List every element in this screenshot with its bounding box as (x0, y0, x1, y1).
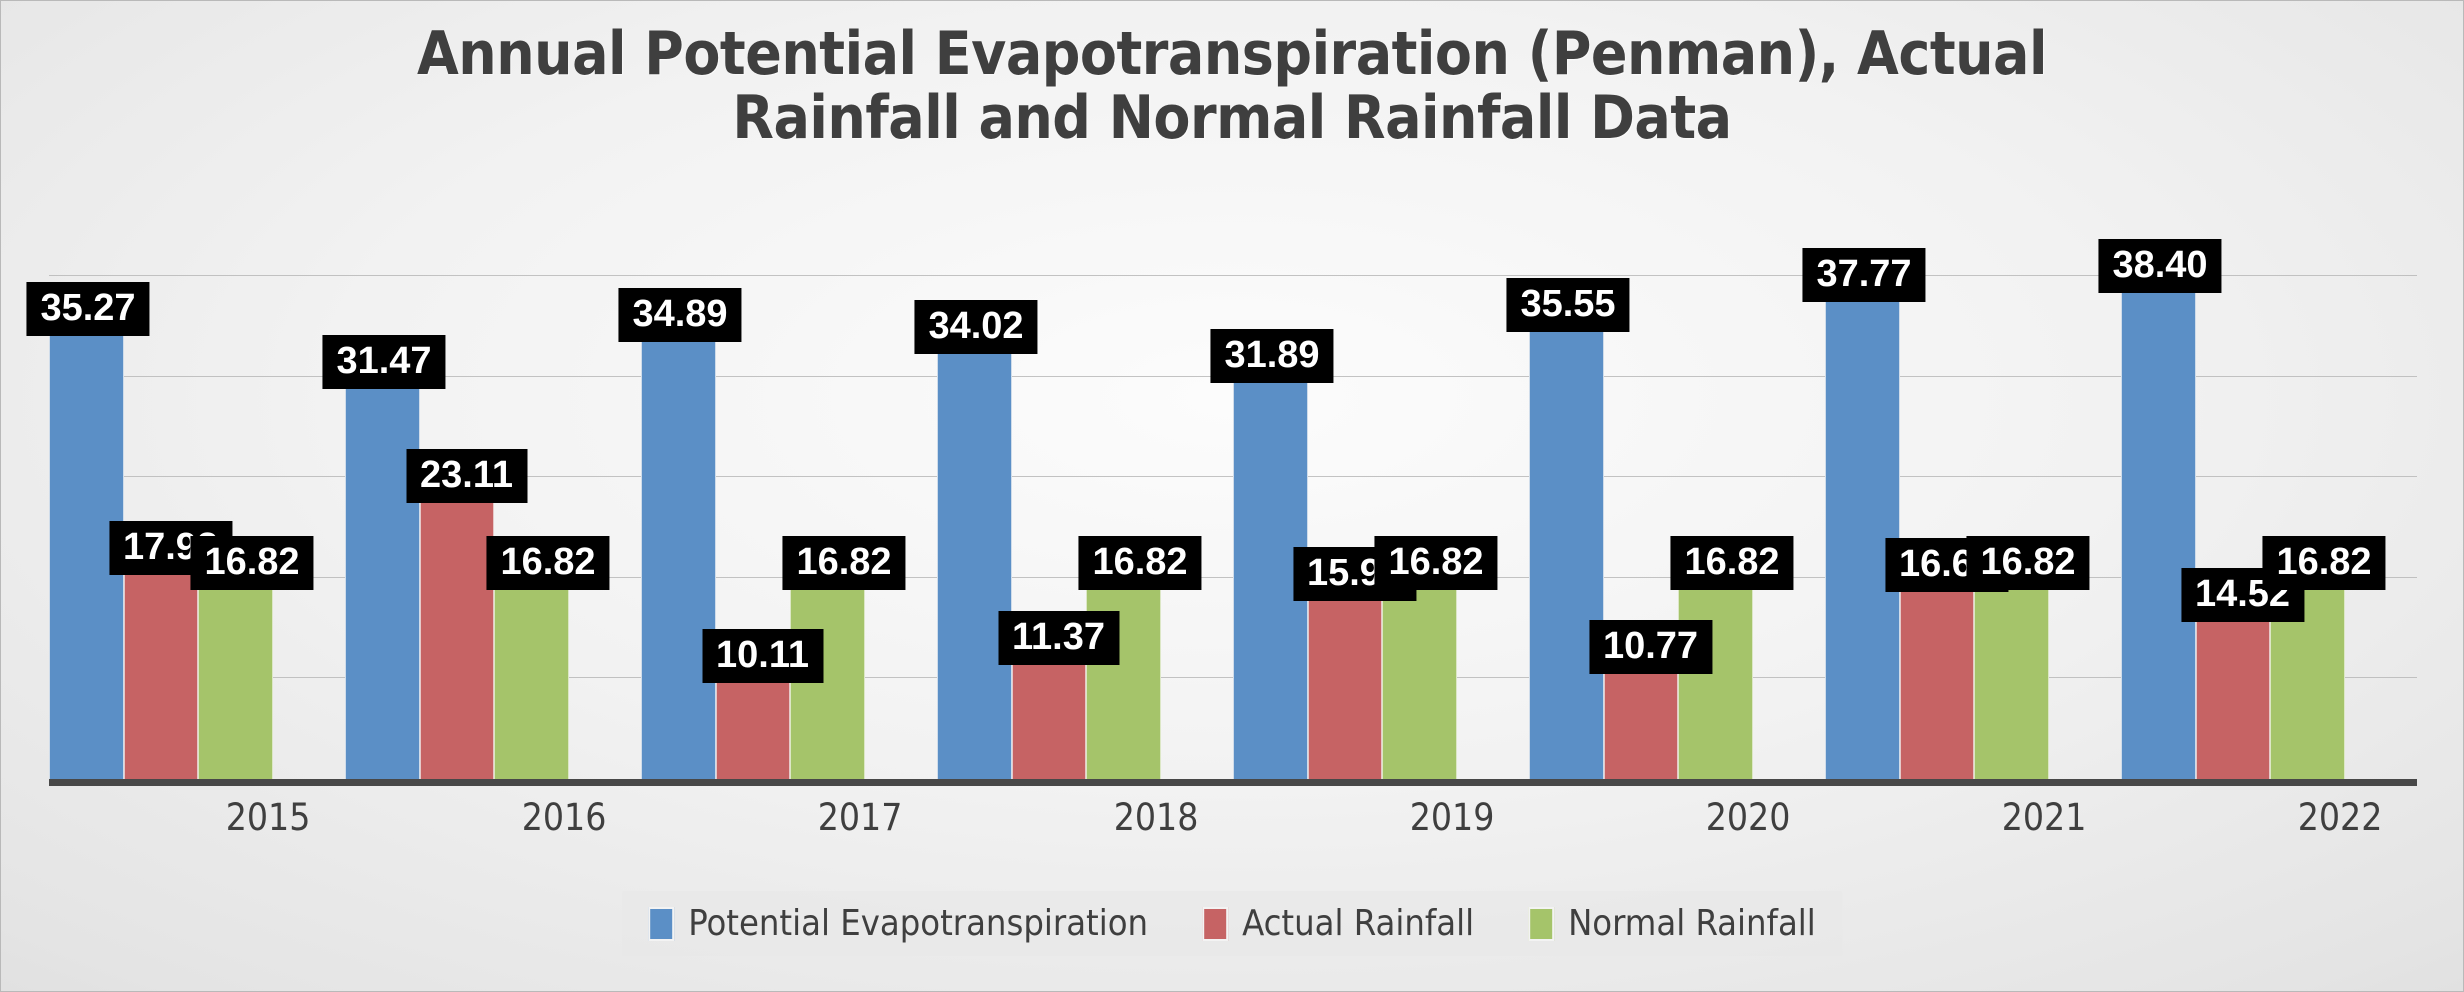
data-label: 31.89 (1210, 329, 1333, 383)
chart-legend: Potential EvapotranspirationActual Rainf… (622, 891, 1842, 956)
legend-item[interactable]: Normal Rainfall (1528, 903, 1816, 944)
bar-1[interactable] (1825, 256, 1900, 779)
data-label: 16.82 (1078, 536, 1201, 590)
data-label: 23.11 (406, 449, 527, 503)
data-label: 16.82 (1374, 536, 1497, 590)
data-label: 11.37 (998, 611, 1119, 665)
data-label: 16.82 (486, 536, 609, 590)
bar-1[interactable] (2121, 247, 2196, 779)
legend-label: Normal Rainfall (1568, 903, 1816, 944)
bar-2[interactable] (420, 459, 495, 779)
category-label: 2021 (1825, 796, 2121, 856)
chart-container: Annual Potential Evapotranspiration (Pen… (0, 0, 2464, 992)
bar-slot (1308, 197, 1383, 779)
category-label: 2017 (641, 796, 937, 856)
bar-slot (1678, 197, 1753, 779)
bar-group (1233, 197, 1529, 779)
legend-swatch-icon (648, 907, 674, 941)
bar-slot (641, 197, 716, 779)
chart-title-line-2: Rainfall and Normal Rainfall Data (1, 87, 2463, 151)
bar-group (641, 197, 937, 779)
category-label: 2022 (2121, 796, 2417, 856)
data-label: 38.40 (2098, 239, 2221, 293)
legend-label: Actual Rainfall (1242, 903, 1474, 944)
legend-swatch-icon (1202, 907, 1228, 941)
category-label: 2019 (1233, 796, 1529, 856)
data-label: 34.02 (914, 300, 1037, 354)
category-label: 2020 (1529, 796, 1825, 856)
bar-groups: 35.2717.9216.8231.4723.1116.8234.8910.11… (49, 197, 2417, 779)
data-label: 16.82 (1670, 536, 1793, 590)
chart-title: Annual Potential Evapotranspiration (Pen… (1, 23, 2463, 150)
data-label: 35.55 (1506, 278, 1629, 332)
chart-title-line-1: Annual Potential Evapotranspiration (Pen… (1, 23, 2463, 87)
category-axis-labels: 20152016201720182019202020212022 (49, 796, 2417, 856)
data-label: 16.82 (2262, 536, 2385, 590)
bar-slot (1086, 197, 1161, 779)
bar-slot (1974, 197, 2049, 779)
bar-1[interactable] (345, 343, 420, 779)
bar-group (937, 197, 1233, 779)
category-label: 2015 (49, 796, 345, 856)
data-label: 37.77 (1802, 248, 1925, 302)
legend-item[interactable]: Potential Evapotranspiration (648, 903, 1148, 944)
bar-slot (716, 197, 791, 779)
bar-slot (198, 197, 273, 779)
data-label: 35.27 (26, 282, 149, 336)
legend-item[interactable]: Actual Rainfall (1202, 903, 1474, 944)
bar-slot (1382, 197, 1457, 779)
category-label: 2018 (937, 796, 1233, 856)
bar-slot (1012, 197, 1087, 779)
data-label: 10.11 (702, 629, 823, 683)
bar-slot (2270, 197, 2345, 779)
bar-1[interactable] (641, 296, 716, 779)
bar-1[interactable] (1529, 286, 1604, 779)
bar-slot (790, 197, 865, 779)
data-label: 16.82 (190, 536, 313, 590)
bar-slot (937, 197, 1012, 779)
data-label: 10.77 (1589, 620, 1712, 674)
legend-swatch-icon (1528, 907, 1554, 941)
data-label: 16.82 (1966, 536, 2089, 590)
legend-label: Potential Evapotranspiration (688, 903, 1148, 944)
category-axis-line (49, 779, 2417, 786)
bar-1[interactable] (937, 308, 1012, 779)
data-label: 34.89 (618, 288, 741, 342)
bar-slot (1233, 197, 1308, 779)
data-label: 16.82 (782, 536, 905, 590)
data-label: 31.47 (322, 335, 445, 389)
category-label: 2016 (345, 796, 641, 856)
